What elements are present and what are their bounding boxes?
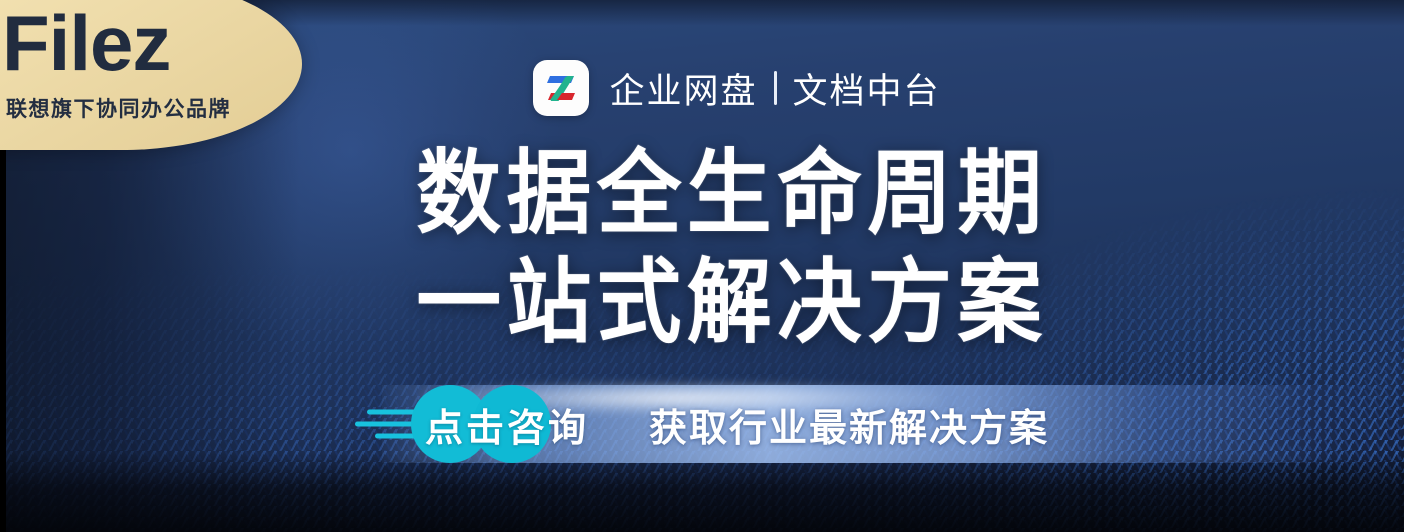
product-name-primary: 企业网盘 [609, 63, 757, 114]
left-edge-strip [0, 130, 6, 532]
cta-secondary-label: 获取行业最新解决方案 [649, 397, 1049, 452]
cta-consult-button[interactable]: 点击咨询 [409, 397, 605, 452]
filez-z-icon [533, 60, 589, 116]
product-header: 企业网盘 文档中台 [0, 60, 1404, 116]
separator-bar-icon [774, 71, 777, 105]
product-name-group: 企业网盘 文档中台 [609, 63, 940, 114]
cta-band: 点击咨询 获取行业最新解决方案 [0, 385, 1404, 463]
cta-primary-label: 点击咨询 [409, 397, 605, 452]
background-bottom-shade [0, 452, 1404, 532]
promo-banner: Filez 联想旗下协同办公品牌 企业网盘 文档中台 数据全生命周期 一站式解决… [0, 0, 1404, 532]
product-name-secondary: 文档中台 [793, 63, 941, 114]
